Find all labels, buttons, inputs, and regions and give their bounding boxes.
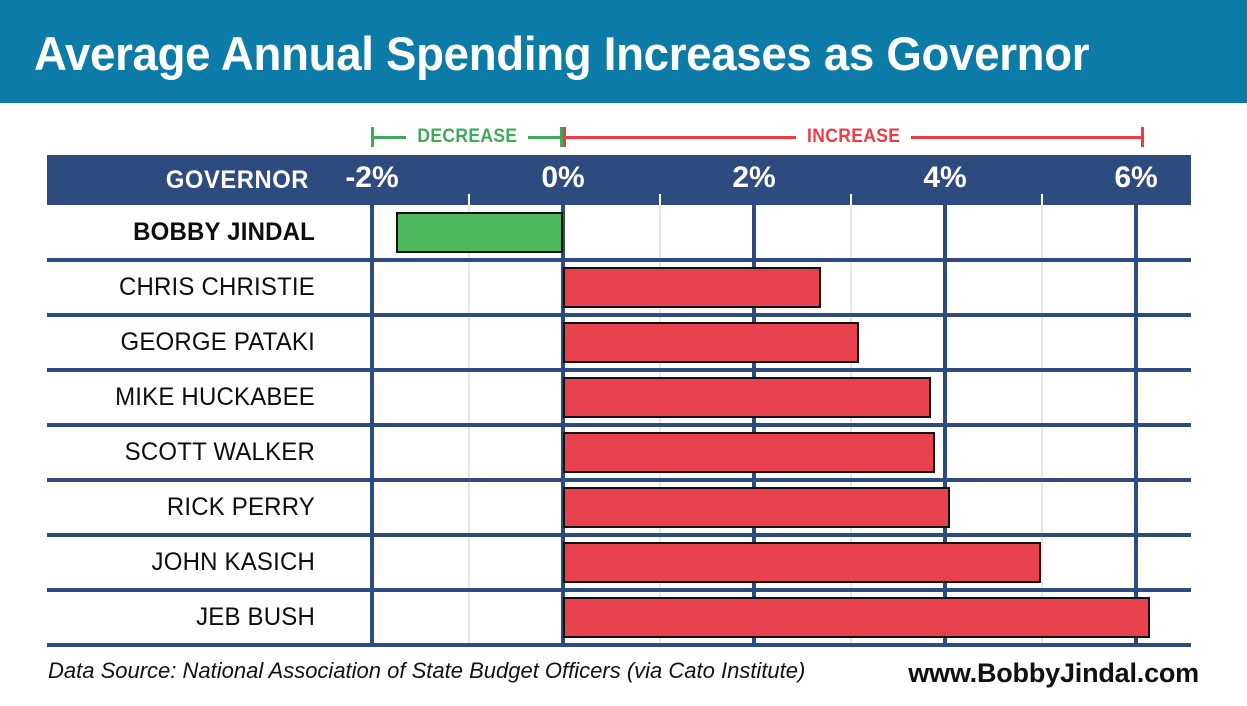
decrease-label: DECREASE [411, 126, 524, 148]
table-row[interactable]: RICK PERRY [47, 480, 1191, 535]
table-row[interactable]: GEORGE PATAKI [47, 315, 1191, 370]
row-label-governor-name: GEORGE PATAKI [58, 315, 315, 370]
increase-bracket: INCREASE [563, 124, 1144, 150]
axis-tick-label: 0% [541, 161, 584, 195]
plot-area: BOBBY JINDALCHRIS CHRISTIEGEORGE PATAKIM… [47, 205, 1191, 645]
title-banner: Average Annual Spending Increases as Gov… [0, 0, 1247, 103]
row-label-governor-name: BOBBY JINDAL [58, 205, 315, 260]
row-label-governor-name: JOHN KASICH [58, 535, 315, 590]
bar-increase [563, 377, 931, 418]
row-label-governor-name: RICK PERRY [58, 480, 315, 535]
bracket-rule-left [374, 136, 406, 139]
row-label-governor-name: JEB BUSH [58, 590, 315, 645]
table-row[interactable]: BOBBY JINDAL [47, 205, 1191, 260]
bracket-rule-right [911, 136, 1141, 139]
bar-increase [563, 597, 1150, 638]
axis-minor-tick [659, 194, 661, 205]
row-label-governor-name: MIKE HUCKABEE [58, 370, 315, 425]
column-header-governor: GOVERNOR [60, 166, 309, 195]
axis-header-band: GOVERNOR -2%0%2%4%6% [47, 155, 1191, 205]
axis-tick-label: 2% [732, 161, 775, 195]
page-title: Average Annual Spending Increases as Gov… [34, 27, 1188, 81]
bar-increase [563, 267, 821, 308]
bracket-rule-right [528, 136, 560, 139]
direction-bracket-strip: DECREASE INCREASE [0, 124, 1247, 156]
axis-tick-label: 4% [923, 161, 966, 195]
bar-decrease [396, 212, 563, 253]
data-source-note: Data Source: National Association of Sta… [48, 658, 805, 684]
axis-tick-label: 6% [1114, 161, 1157, 195]
decrease-bracket: DECREASE [371, 124, 563, 150]
row-separator [47, 643, 1191, 647]
axis-minor-tick [850, 194, 852, 205]
spending-chart-table: GOVERNOR -2%0%2%4%6% BOBBY JINDALCHRIS C… [47, 155, 1191, 645]
increase-label: INCREASE [800, 126, 906, 148]
table-row[interactable]: JOHN KASICH [47, 535, 1191, 590]
axis-tick-label: -2% [345, 161, 398, 195]
row-label-governor-name: CHRIS CHRISTIE [58, 260, 315, 315]
website-url[interactable]: www.BobbyJindal.com [908, 658, 1199, 689]
table-row[interactable]: JEB BUSH [47, 590, 1191, 645]
axis-minor-tick [1041, 194, 1043, 205]
row-separator [47, 423, 1191, 427]
row-separator [47, 313, 1191, 317]
row-separator [47, 368, 1191, 372]
row-separator [47, 478, 1191, 482]
table-row[interactable]: SCOTT WALKER [47, 425, 1191, 480]
bar-increase [563, 487, 950, 528]
bar-increase [563, 432, 935, 473]
bracket-cap-right [1141, 127, 1144, 147]
bar-increase [563, 322, 859, 363]
row-separator [47, 258, 1191, 262]
row-separator [47, 588, 1191, 592]
bar-increase [563, 542, 1041, 583]
axis-minor-tick [468, 194, 470, 205]
table-row[interactable]: CHRIS CHRISTIE [47, 260, 1191, 315]
row-label-governor-name: SCOTT WALKER [58, 425, 315, 480]
bracket-rule-left [566, 136, 796, 139]
table-row[interactable]: MIKE HUCKABEE [47, 370, 1191, 425]
row-separator [47, 533, 1191, 537]
